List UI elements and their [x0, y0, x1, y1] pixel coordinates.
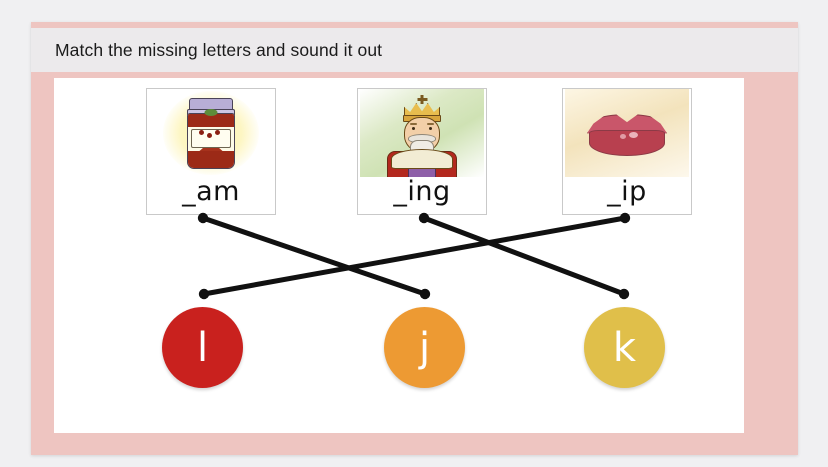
lips-icon: [565, 89, 689, 177]
letter-circle-j[interactable]: j: [384, 307, 465, 388]
header-bar: Match the missing letters and sound it o…: [31, 28, 798, 72]
letter-circle-l[interactable]: l: [162, 307, 243, 388]
jam-jar-icon: [149, 89, 273, 177]
word-label-am: _am: [182, 178, 240, 205]
word-card-ip[interactable]: _ip: [562, 88, 692, 215]
page-title: Match the missing letters and sound it o…: [55, 40, 382, 61]
letter-label-l: l: [197, 328, 208, 368]
king-icon: [360, 89, 484, 177]
word-card-ing[interactable]: _ing: [357, 88, 487, 215]
letter-circle-k[interactable]: k: [584, 307, 665, 388]
word-label-ip: _ip: [607, 178, 647, 205]
letter-label-k: k: [613, 328, 636, 368]
word-label-ing: _ing: [393, 178, 450, 205]
word-card-am[interactable]: _am: [146, 88, 276, 215]
letter-label-j: j: [419, 328, 430, 368]
